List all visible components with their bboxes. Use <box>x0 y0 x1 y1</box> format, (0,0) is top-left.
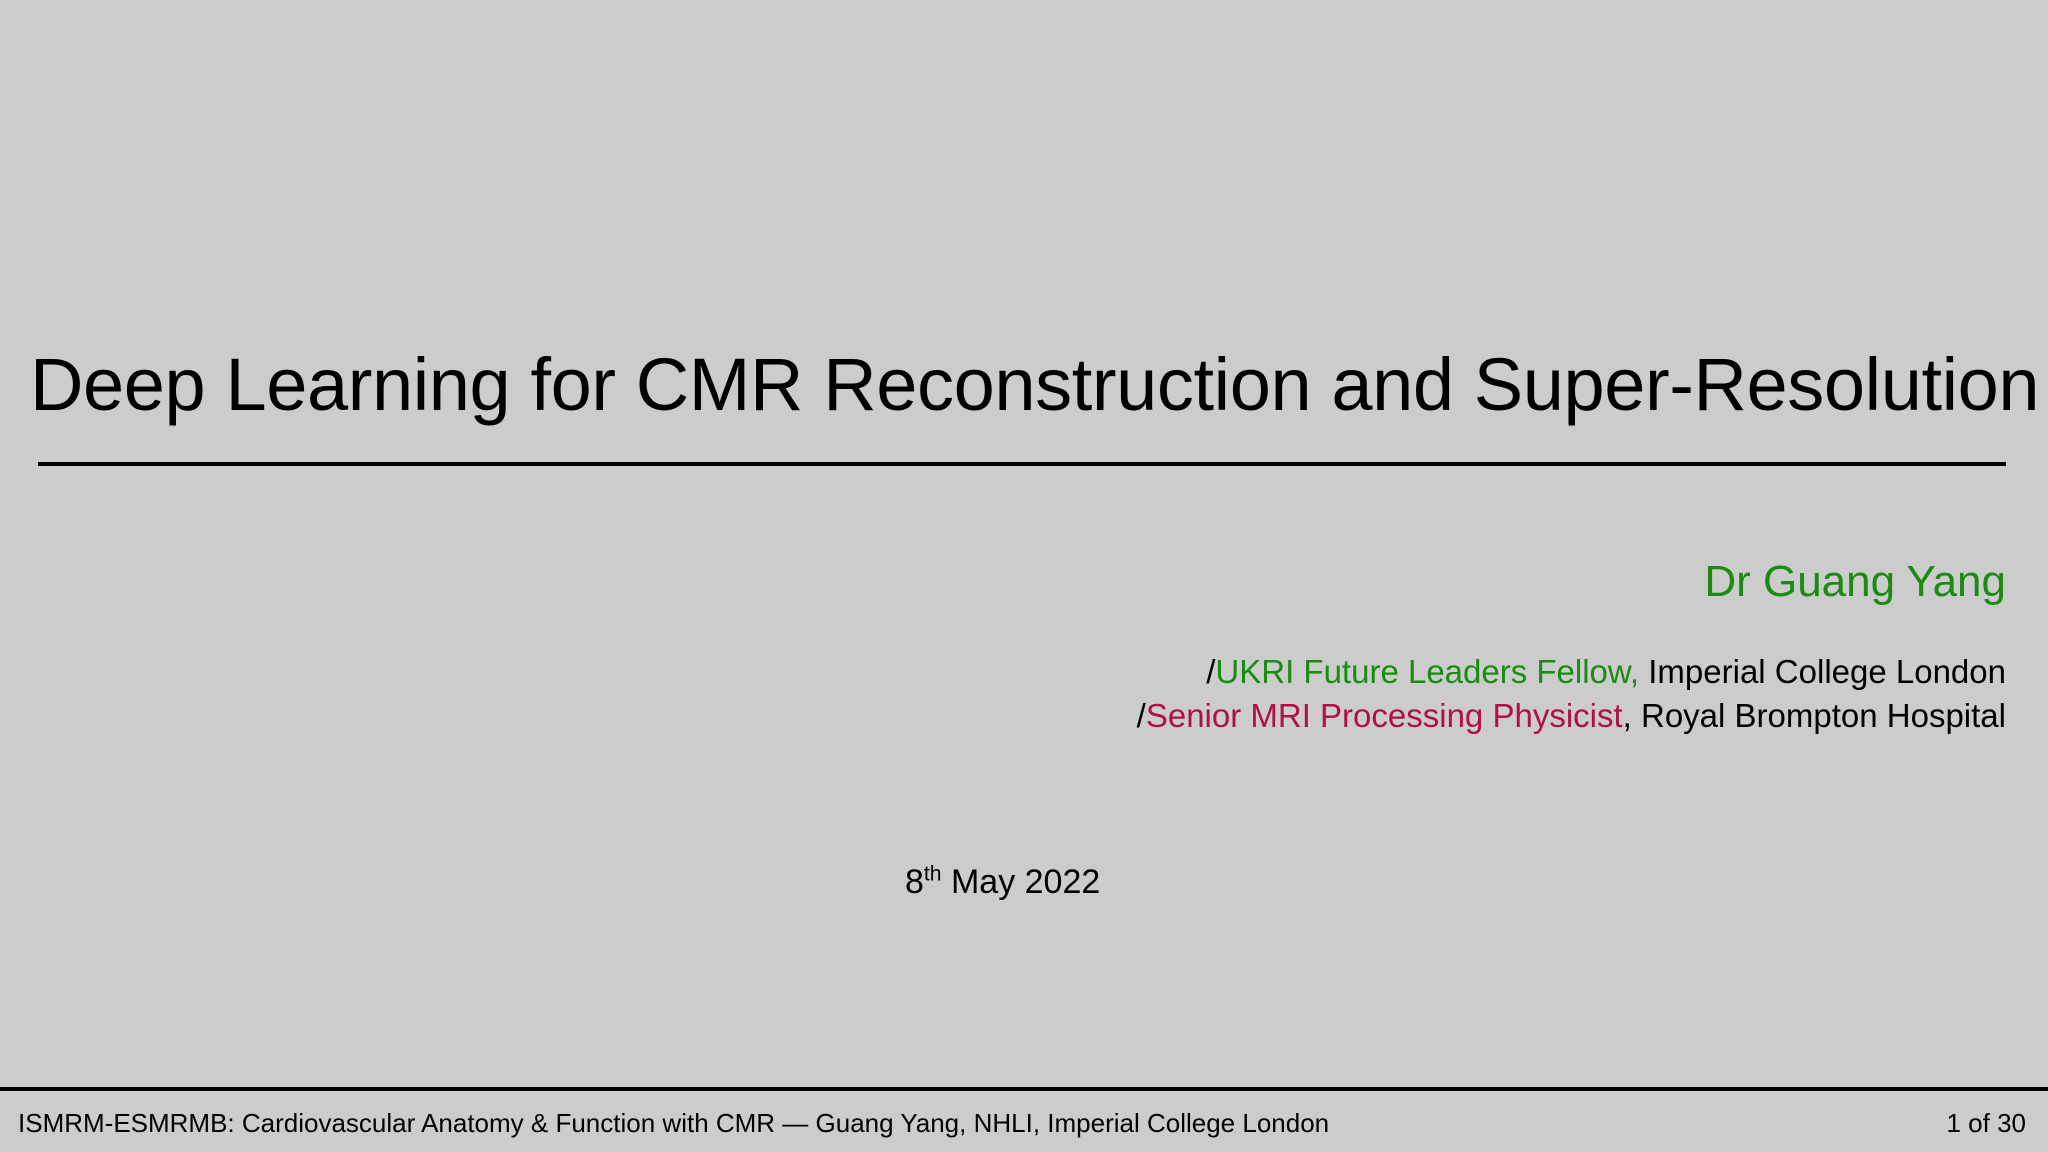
affiliation-institution: , Royal Brompton Hospital <box>1623 697 2006 734</box>
page-title: Deep Learning for CMR Reconstruction and… <box>0 348 2048 422</box>
date-day: 8 <box>905 863 924 901</box>
affiliation-role: UKRI Future Leaders Fellow, <box>1215 653 1639 690</box>
title-block: Deep Learning for CMR Reconstruction and… <box>0 348 2048 466</box>
date-ordinal-suffix: th <box>924 863 942 886</box>
affiliation-list: /UKRI Future Leaders Fellow, Imperial Co… <box>606 650 2006 737</box>
page-number: 1 of 30 <box>1946 1108 2026 1139</box>
slide-footer: ISMRM-ESMRMB: Cardiovascular Anatomy & F… <box>0 1096 2048 1152</box>
affiliation-role: Senior MRI Processing Physicist <box>1146 697 1623 734</box>
title-divider <box>38 462 2006 466</box>
footer-divider <box>0 1087 2048 1091</box>
presentation-date: 8th May 2022 <box>905 862 1100 903</box>
author-name: Dr Guang Yang <box>606 558 2006 606</box>
affiliation-item: /UKRI Future Leaders Fellow, Imperial Co… <box>606 650 2006 694</box>
affiliation-institution: Imperial College London <box>1639 653 2006 690</box>
affiliation-slash: / <box>1137 697 1146 734</box>
footer-caption: ISMRM-ESMRMB: Cardiovascular Anatomy & F… <box>18 1108 1329 1139</box>
presentation-slide: Deep Learning for CMR Reconstruction and… <box>0 0 2048 1152</box>
date-month-year: May 2022 <box>942 863 1101 901</box>
author-block: Dr Guang Yang /UKRI Future Leaders Fello… <box>606 558 2006 737</box>
affiliation-item: /Senior MRI Processing Physicist, Royal … <box>606 694 2006 738</box>
